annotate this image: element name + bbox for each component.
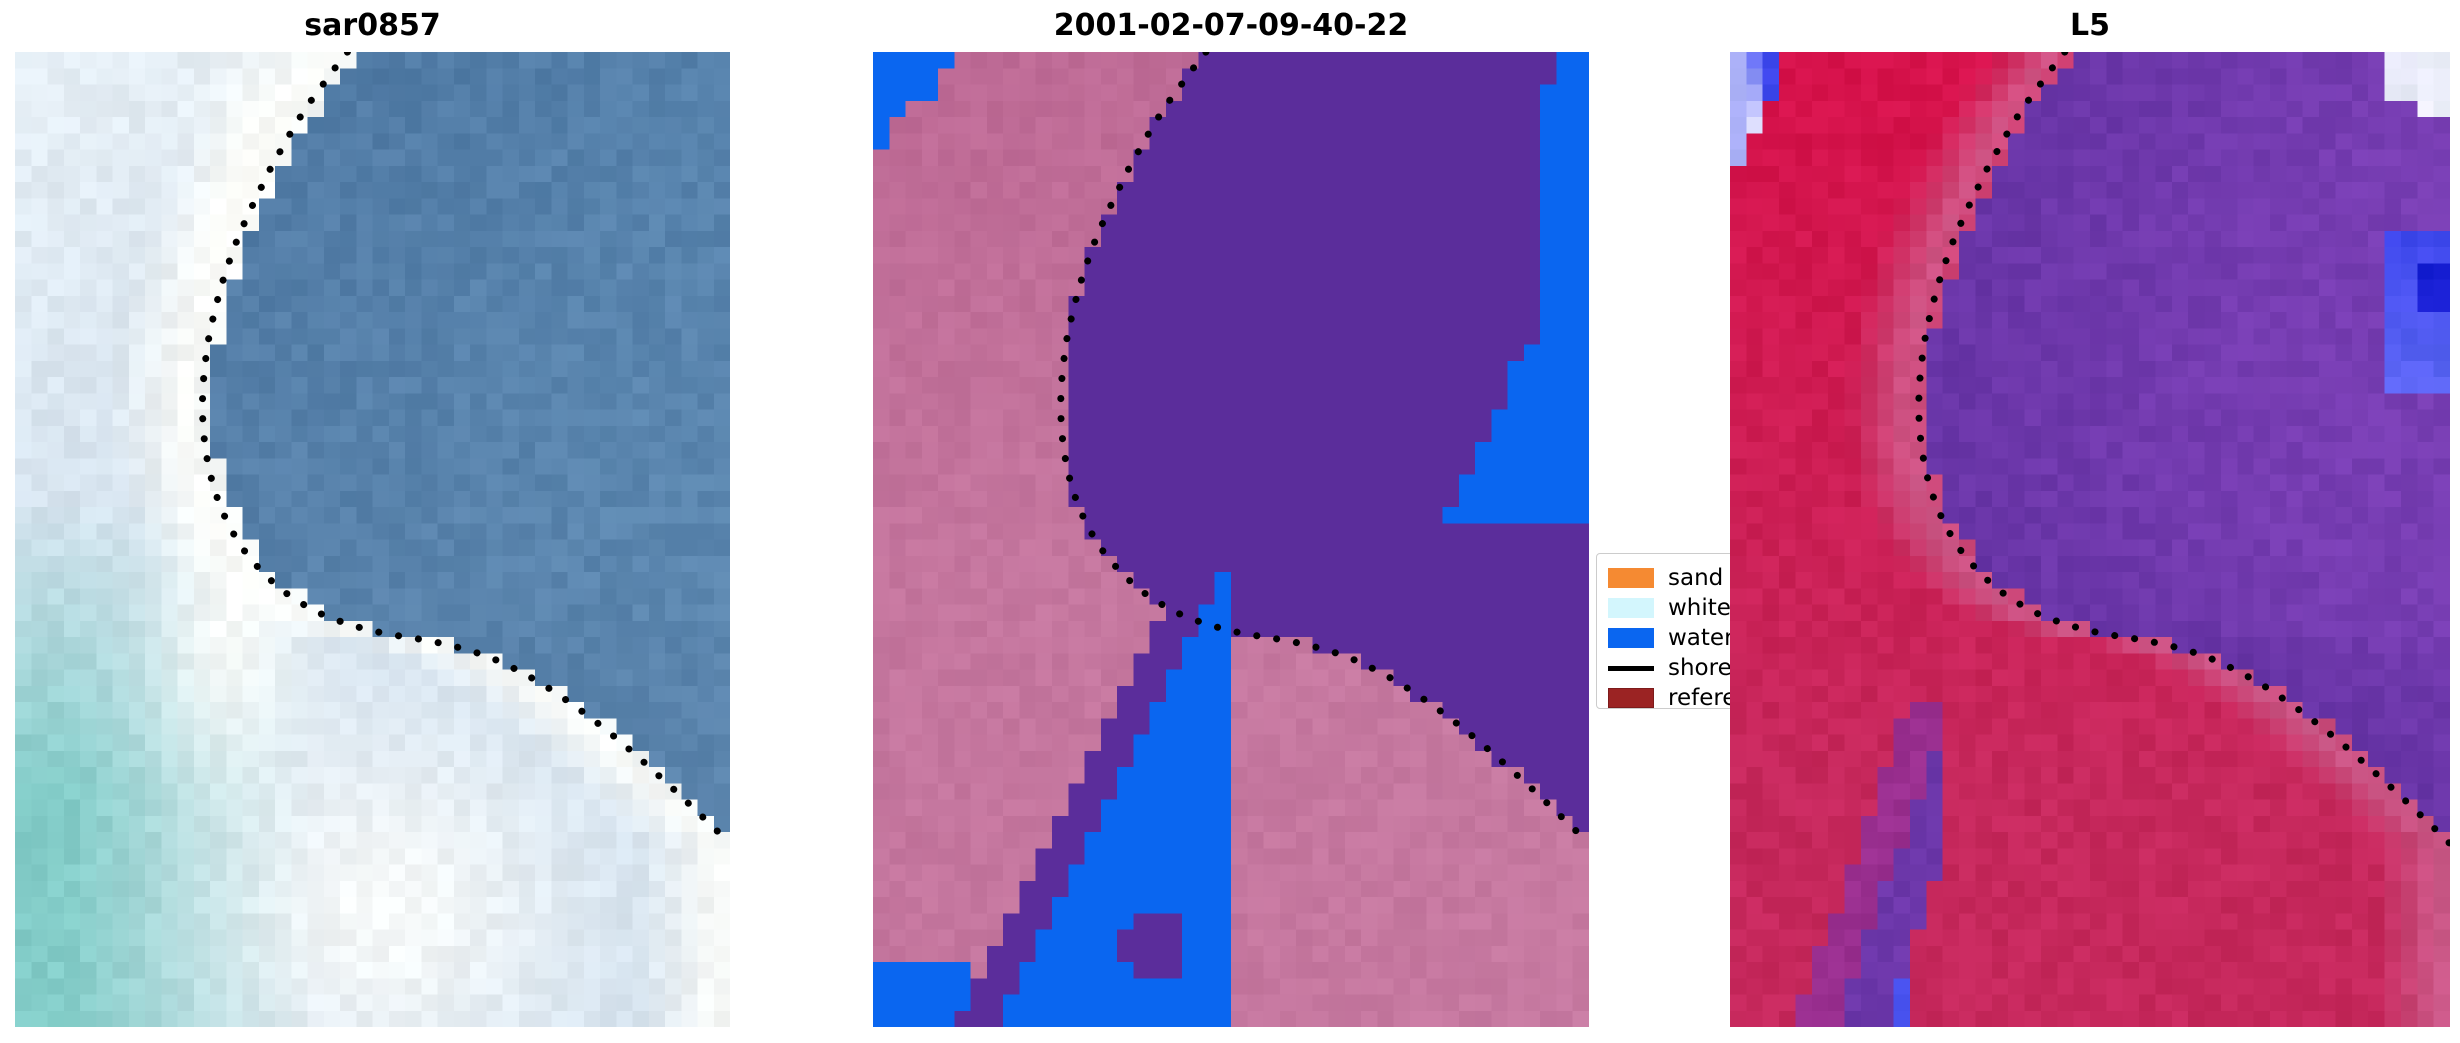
figure-canvas: sar0857 2001-02-07-09-40-22 L5 sand whit… bbox=[0, 0, 2460, 1043]
panel-title-l5: L5 bbox=[1730, 8, 2450, 43]
shoreline-overlay-l5-top bbox=[1730, 52, 2450, 1027]
legend-swatch-reference bbox=[1608, 688, 1654, 708]
legend-swatch-sand bbox=[1608, 568, 1654, 588]
legend-swatch-whitewater bbox=[1608, 598, 1654, 618]
sar-raster bbox=[15, 52, 730, 1027]
legend-label-sand: sand bbox=[1668, 567, 1723, 590]
legend-swatch-water bbox=[1608, 628, 1654, 648]
panel-l5-occluder bbox=[1730, 52, 2450, 1027]
panel-classification bbox=[873, 52, 1589, 1027]
panel-title-sar: sar0857 bbox=[15, 8, 730, 43]
panel-sar bbox=[15, 52, 730, 1027]
classification-raster bbox=[873, 52, 1589, 1027]
panel-title-classification: 2001-02-07-09-40-22 bbox=[873, 8, 1589, 43]
legend-label-water: water bbox=[1668, 627, 1734, 650]
legend-swatch-shoreline bbox=[1608, 666, 1654, 671]
